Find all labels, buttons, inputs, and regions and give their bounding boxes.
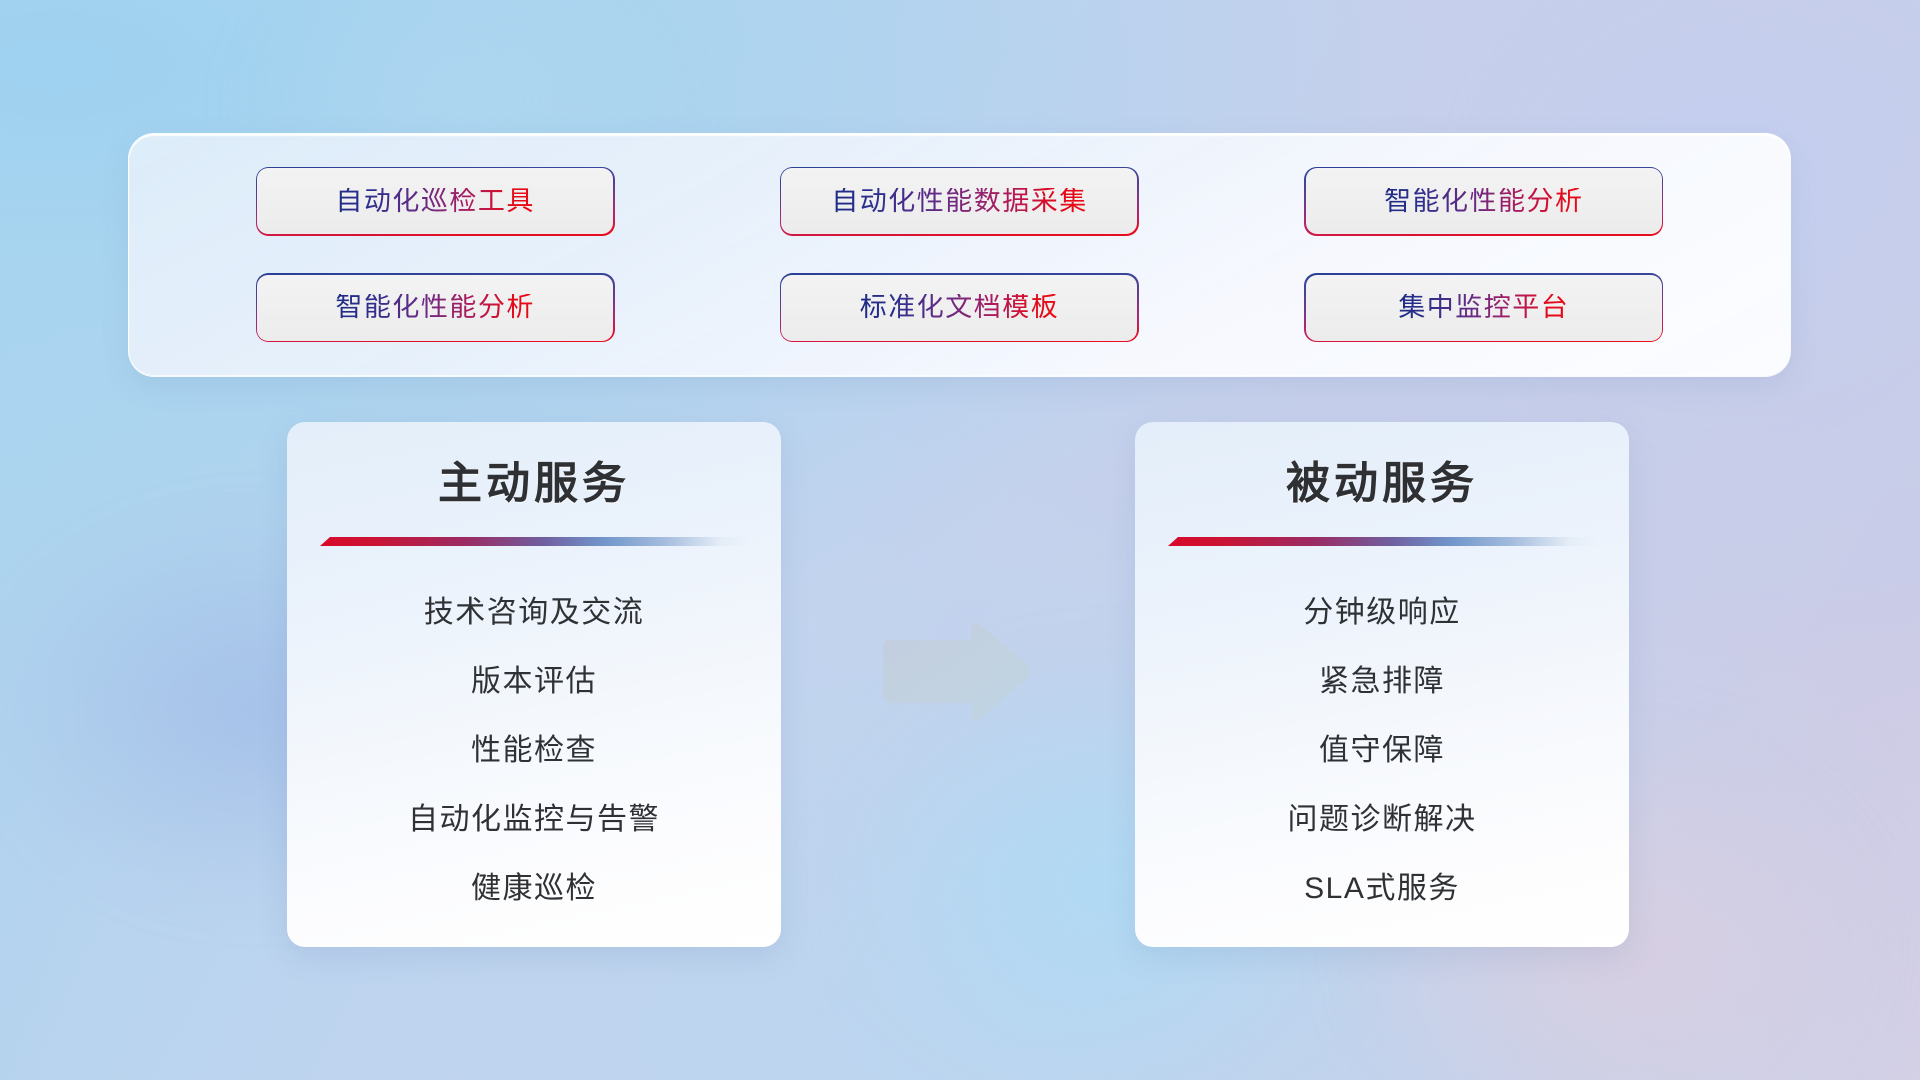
list-item[interactable]: 健康巡检	[309, 854, 759, 923]
service-item-list: 分钟级响应 紧急排障 值守保障 问题诊断解决 SLA式服务	[1157, 579, 1607, 923]
list-item[interactable]: 自动化监控与告警	[309, 785, 759, 854]
tag-chip[interactable]: 标准化文档模板	[781, 275, 1137, 341]
list-item[interactable]: 性能检查	[309, 717, 759, 786]
tag-chip[interactable]: 自动化性能数据采集	[781, 168, 1137, 234]
tag-chip[interactable]: 集中监控平台	[1306, 275, 1662, 341]
service-item-list: 技术咨询及交流 版本评估 性能检查 自动化监控与告警 健康巡检	[309, 579, 759, 923]
tag-chip[interactable]: 智能化性能分析	[1306, 168, 1662, 234]
list-item[interactable]: 版本评估	[309, 648, 759, 717]
tag-chip-label: 自动化巡检工具	[335, 188, 535, 215]
service-card-title: 主动服务	[287, 460, 781, 508]
list-item[interactable]: 紧急排障	[1157, 648, 1607, 717]
tag-chip-label: 智能化性能分析	[335, 294, 535, 321]
tag-chip-label: 集中监控平台	[1398, 294, 1569, 321]
list-item[interactable]: 值守保障	[1157, 717, 1607, 786]
service-card-title: 被动服务	[1135, 460, 1629, 508]
tag-chip[interactable]: 智能化性能分析	[257, 275, 613, 341]
tag-chip-label: 标准化文档模板	[860, 294, 1060, 321]
tag-chip-label: 智能化性能分析	[1384, 188, 1584, 215]
tag-chip[interactable]: 自动化巡检工具	[257, 168, 613, 234]
list-item[interactable]: SLA式服务	[1157, 854, 1607, 923]
tag-chip-label: 自动化性能数据采集	[831, 188, 1088, 215]
service-card-active: 主动服务 技术咨询及交流 版本评估 性能检查 自动化监控与告警 健康巡检	[287, 422, 781, 947]
list-item[interactable]: 分钟级响应	[1157, 579, 1607, 648]
capability-tags-panel: 自动化巡检工具 自动化性能数据采集 智能化性能分析 智能化性能分析 标准化文档模…	[128, 133, 1791, 376]
list-item[interactable]: 技术咨询及交流	[309, 579, 759, 648]
title-divider	[320, 537, 750, 546]
service-card-passive: 被动服务 分钟级响应 紧急排障 值守保障 问题诊断解决 SLA式服务	[1135, 422, 1629, 947]
title-divider	[1168, 537, 1598, 546]
arrow-right-icon	[875, 618, 1035, 726]
capability-tags-grid: 自动化巡检工具 自动化性能数据采集 智能化性能分析 智能化性能分析 标准化文档模…	[129, 134, 1790, 375]
list-item[interactable]: 问题诊断解决	[1157, 785, 1607, 854]
